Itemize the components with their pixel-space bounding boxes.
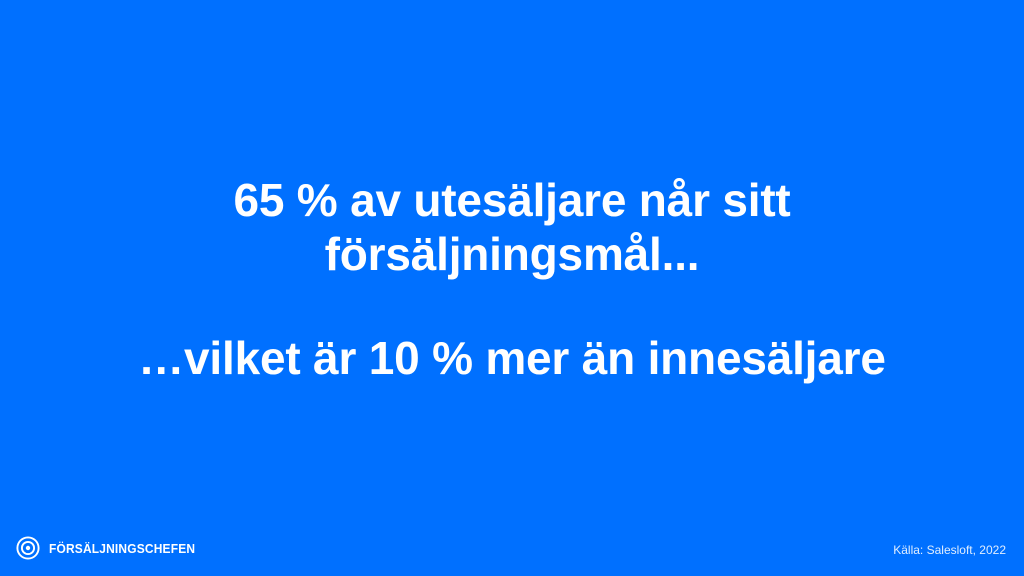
brand-logo: FÖRSÄLJNINGSCHEFEN xyxy=(16,536,208,560)
headline-spacer xyxy=(60,281,964,331)
bullseye-target-icon xyxy=(16,536,40,560)
logo-wordmark: FÖRSÄLJNINGSCHEFEN xyxy=(49,542,195,555)
headline-secondary: …vilket är 10 % mer än innesäljare xyxy=(60,331,964,385)
slide-canvas: 65 % av utesäljare når sitt försäljnings… xyxy=(0,0,1024,576)
source-credit: Källa: Salesloft, 2022 xyxy=(893,544,1006,556)
headline-block: 65 % av utesäljare når sitt försäljnings… xyxy=(0,173,1024,385)
headline-primary: 65 % av utesäljare når sitt försäljnings… xyxy=(60,173,964,281)
